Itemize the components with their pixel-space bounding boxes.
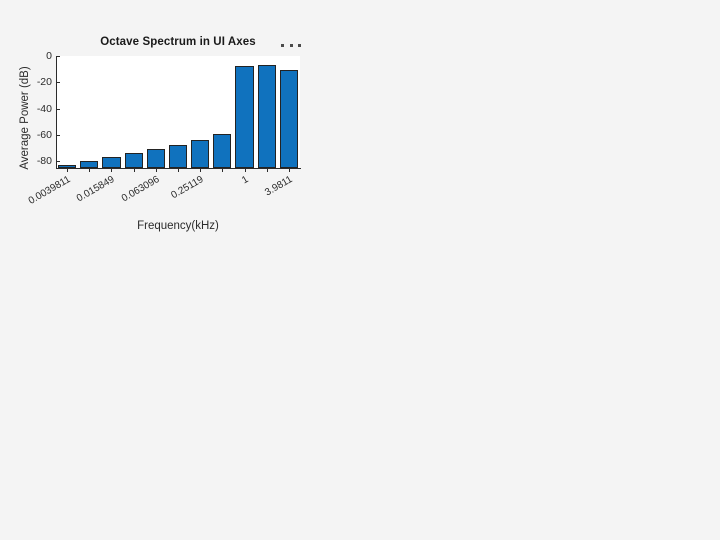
x-tick-mark: [89, 168, 90, 172]
bar: [280, 70, 298, 168]
bar: [191, 140, 209, 168]
bar: [147, 149, 165, 168]
x-axis-title: Frequency(kHz): [56, 220, 300, 232]
bar: [213, 134, 231, 168]
y-tick-mark: [56, 135, 60, 136]
ellipsis-dot: [281, 44, 284, 47]
x-tick-mark: [222, 168, 223, 172]
y-tick-mark: [56, 109, 60, 110]
ellipsis-dot: [290, 44, 293, 47]
y-tick-label: -40: [37, 103, 52, 115]
bar-series: [56, 56, 300, 168]
bar: [80, 161, 98, 168]
y-tick-label: 0: [46, 50, 52, 62]
y-tick-mark: [56, 161, 60, 162]
x-tick-mark: [111, 168, 112, 172]
bar: [258, 65, 276, 168]
bar: [102, 157, 120, 168]
x-tick-mark: [245, 168, 246, 172]
bar: [125, 153, 143, 168]
x-tick-mark: [267, 168, 268, 172]
y-axis-title: Average Power (dB): [19, 48, 31, 188]
ui-axes-figure: Octave Spectrum in UI Axes 0-20-40-60-80…: [0, 0, 330, 250]
bar: [235, 66, 253, 168]
x-tick-mark: [67, 168, 68, 172]
chart-title: Octave Spectrum in UI Axes: [56, 36, 300, 48]
x-tick-mark: [289, 168, 290, 172]
more-options-icon[interactable]: [281, 38, 301, 52]
ellipsis-dot: [298, 44, 301, 47]
y-tick-label: -20: [37, 76, 52, 88]
y-tick-label: -80: [37, 155, 52, 167]
y-tick-mark: [56, 56, 60, 57]
y-tick-label: -60: [37, 129, 52, 141]
x-tick-mark: [134, 168, 135, 172]
x-tick-mark: [156, 168, 157, 172]
x-tick-mark: [200, 168, 201, 172]
bar: [169, 145, 187, 168]
x-tick-mark: [178, 168, 179, 172]
y-tick-mark: [56, 82, 60, 83]
